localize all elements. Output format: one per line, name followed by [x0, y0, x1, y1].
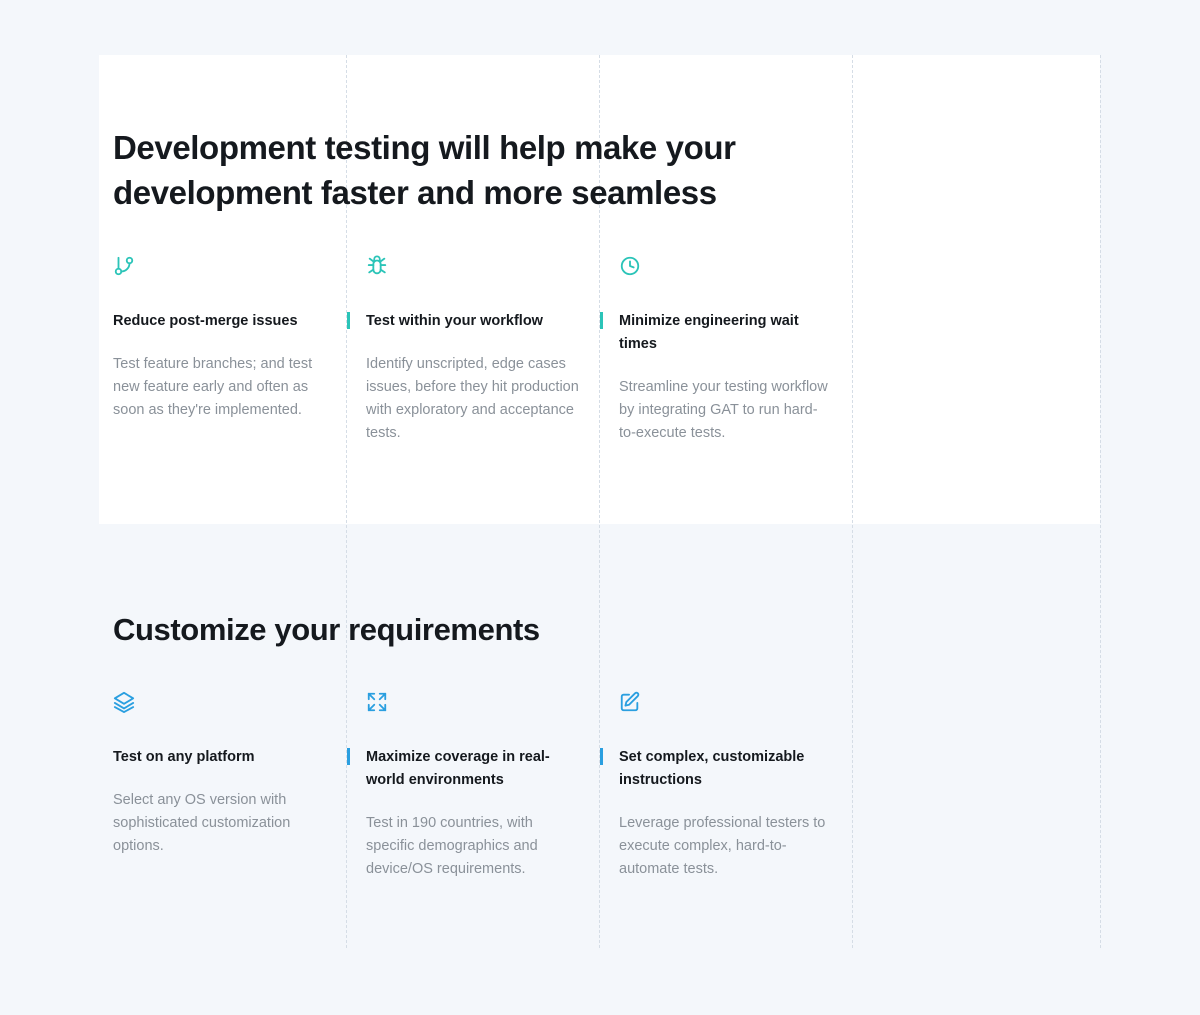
git-branch-icon — [113, 255, 328, 281]
feature-list-customize-requirements: Test on any platform Select any OS versi… — [0, 691, 1200, 951]
feature-title-text: Test within your workflow — [366, 313, 543, 329]
accent-bar — [600, 748, 603, 765]
feature-title-text: Test on any platform — [113, 749, 255, 765]
feature-title: Minimize engineering wait times — [619, 310, 834, 356]
feature-list-development-testing: Reduce post-merge issues Test feature br… — [0, 255, 1200, 515]
feature-item-test-on-any-platform[interactable]: Test on any platform Select any OS versi… — [113, 691, 328, 858]
feature-item-test-within-your-workflow[interactable]: Test within your workflow Identify unscr… — [366, 255, 581, 445]
maximize-icon — [366, 691, 581, 717]
feature-description: Identify unscripted, edge cases issues, … — [366, 353, 581, 445]
feature-title: Test within your workflow — [366, 310, 581, 333]
page-title: Development testing will help make your … — [113, 55, 793, 215]
accent-bar — [347, 312, 350, 329]
edit-square-icon — [619, 691, 834, 717]
feature-item-reduce-post-merge-issues[interactable]: Reduce post-merge issues Test feature br… — [113, 255, 328, 422]
feature-title-text: Reduce post-merge issues — [113, 313, 298, 329]
layers-icon — [113, 691, 328, 717]
section-customize-requirements: Customize your requirements Test on any … — [0, 524, 1200, 951]
feature-title: Test on any platform — [113, 746, 328, 769]
feature-title: Maximize coverage in real-world environm… — [366, 746, 581, 792]
clock-icon — [619, 255, 834, 281]
feature-title-text: Set complex, customizable instructions — [619, 749, 804, 788]
feature-item-minimize-engineering-wait-times[interactable]: Minimize engineering wait times Streamli… — [619, 255, 834, 445]
feature-item-maximize-coverage[interactable]: Maximize coverage in real-world environm… — [366, 691, 581, 881]
feature-description: Test in 190 countries, with specific dem… — [366, 812, 581, 881]
feature-description: Streamline your testing workflow by inte… — [619, 376, 834, 445]
feature-description: Select any OS version with sophisticated… — [113, 789, 328, 858]
accent-bar — [600, 312, 603, 329]
feature-item-set-complex-instructions[interactable]: Set complex, customizable instructions L… — [619, 691, 834, 881]
feature-title: Reduce post-merge issues — [113, 310, 328, 333]
section-development-testing: Development testing will help make your … — [0, 55, 1200, 515]
feature-description: Leverage professional testers to execute… — [619, 812, 834, 881]
bug-icon — [366, 255, 581, 281]
section-title-customize: Customize your requirements — [113, 524, 813, 651]
feature-title: Set complex, customizable instructions — [619, 746, 834, 792]
accent-bar — [347, 748, 350, 765]
feature-description: Test feature branches; and test new feat… — [113, 353, 328, 422]
feature-title-text: Maximize coverage in real-world environm… — [366, 749, 550, 788]
feature-title-text: Minimize engineering wait times — [619, 313, 799, 352]
